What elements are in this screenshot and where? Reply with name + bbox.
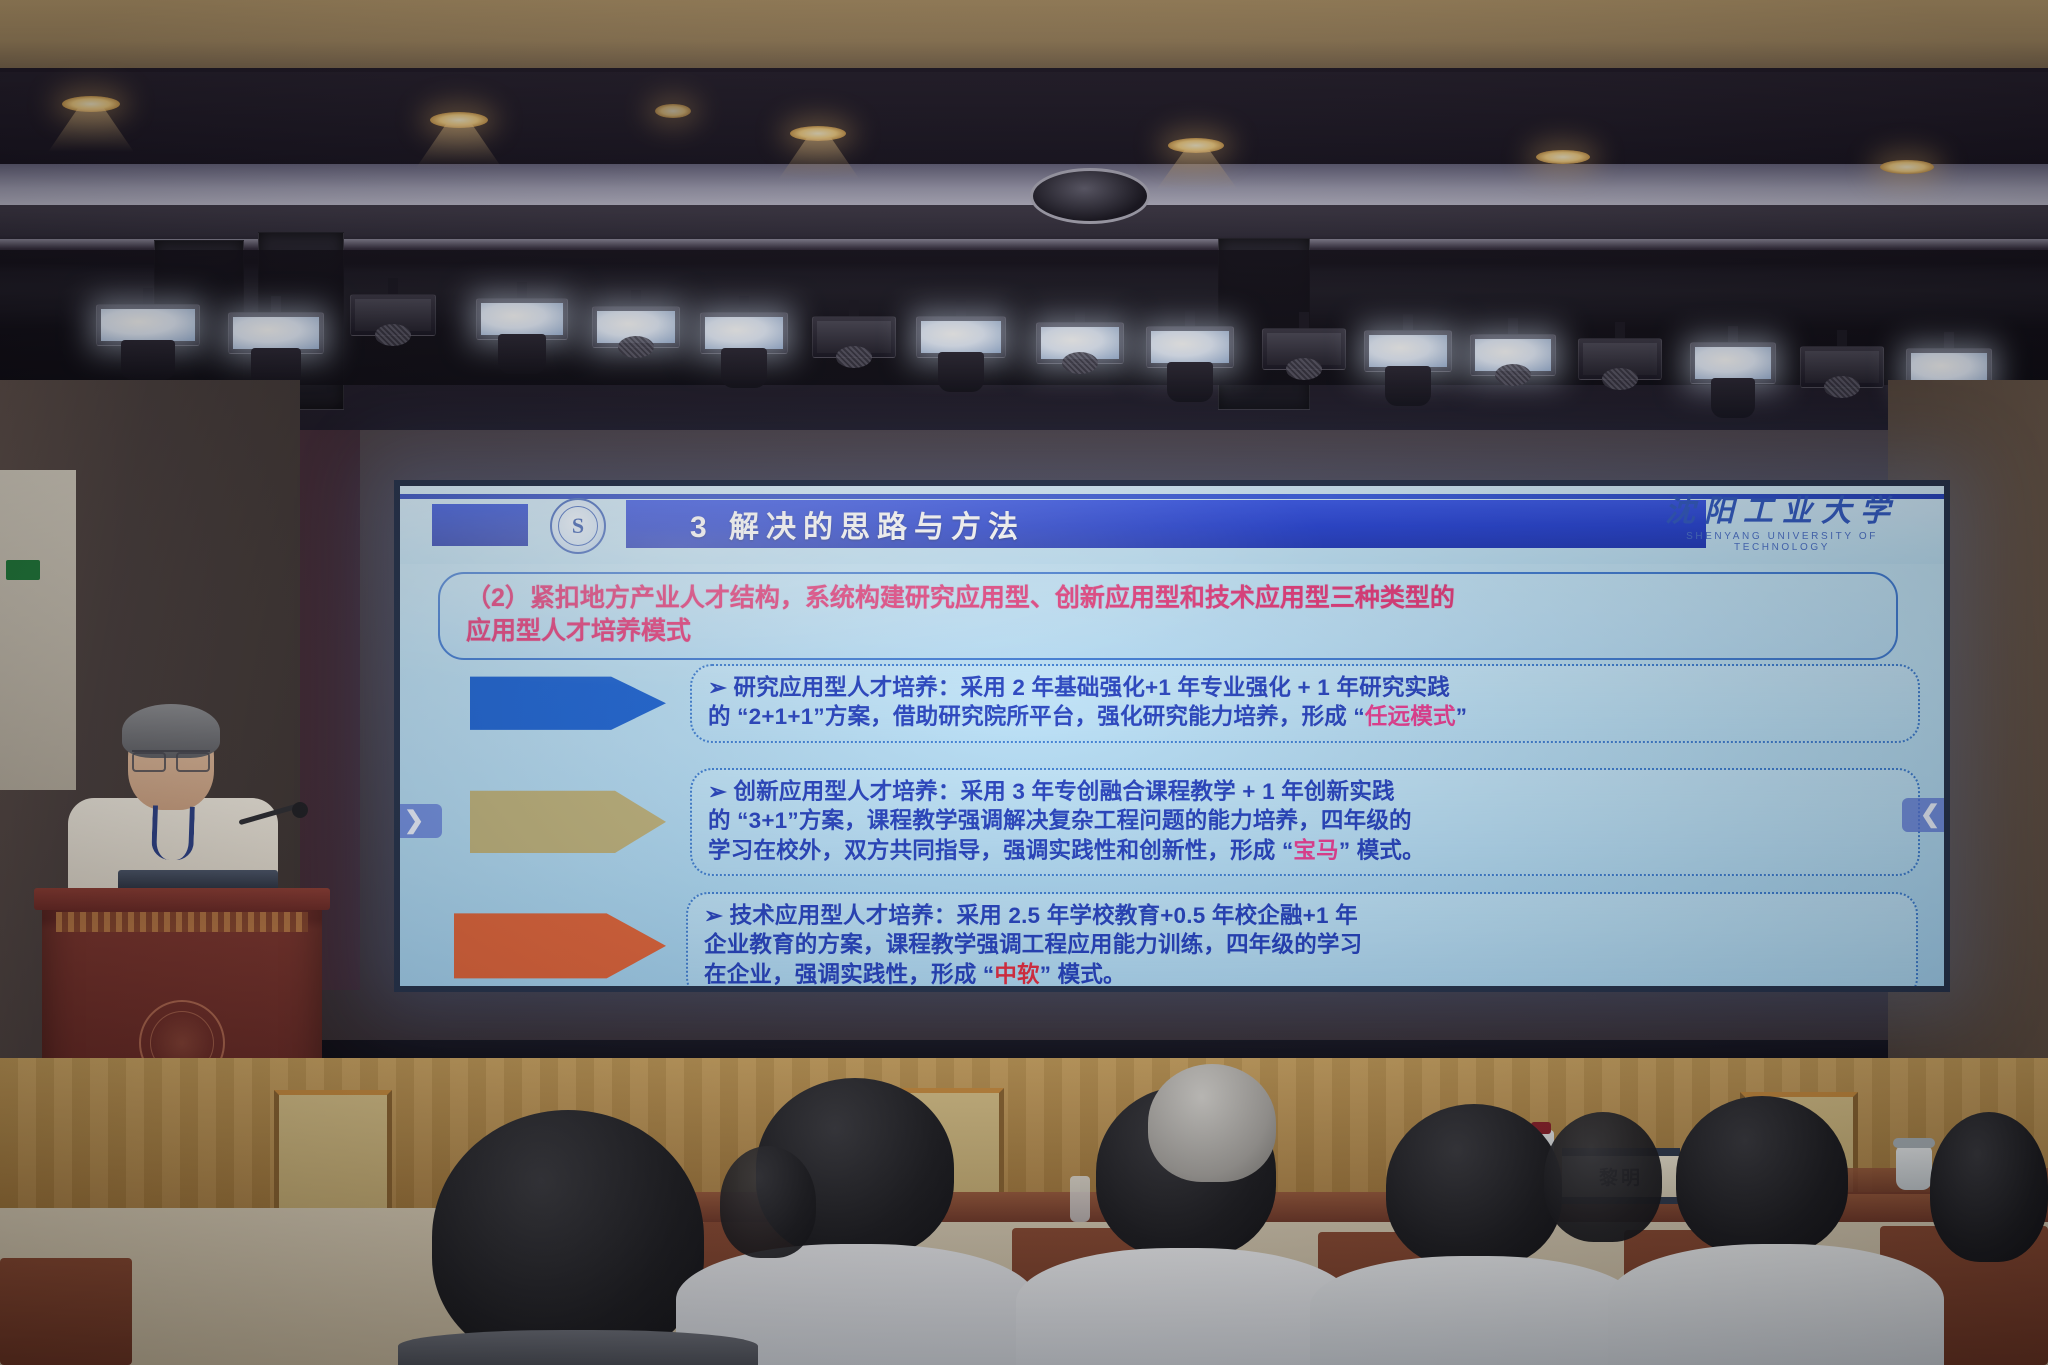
research-line-1: ➢ 研究应用型人才培养：采用 2 年基础强化+1 年专业强化 + 1 年研究实践 [708,673,1902,702]
ceiling-band-1 [0,72,2048,164]
technical-applied-bubble: ➢ 技术应用型人才培养：采用 2.5 年学校教育+0.5 年校企融+1 年 企业… [686,892,1918,986]
audience-head [432,1110,704,1365]
stage-light-fixture [1146,310,1234,426]
callout-line-1: （2）紧扣地方产业人才结构，系统构建研究应用型、创新应用型和技术应用型三种类型的 [466,582,1870,615]
audience-head [1676,1096,1848,1256]
audience-shoulders [1310,1256,1640,1365]
research-applied-bubble: ➢ 研究应用型人才培养：采用 2 年基础强化+1 年专业强化 + 1 年研究实践… [690,664,1920,743]
audience-head [1930,1112,2048,1262]
stage-light-fixture [1364,314,1452,430]
innovation-applied-bubble: ➢ 创新应用型人才培养：采用 3 年专创融合课程教学 + 1 年创新实践 的 “… [690,768,1920,876]
university-name-cn: 沈阳工业大学 [1642,496,1922,528]
podium-top-ledge [34,888,330,910]
stage-light-fixture-off [1262,312,1346,424]
university-name-en: SHENYANG UNIVERSITY OF TECHNOLOGY [1642,531,1922,553]
slide-block-technical: ➢ 技术应用型人才培养：采用 2.5 年学校教育+0.5 年校企融+1 年 企业… [454,892,1920,986]
auditorium-photo-scene: S 3 解决的思路与方法 沈阳工业大学 SHENYANG UNIVERSITY … [0,0,2048,1365]
slide-prev-button[interactable]: ❮ [1902,798,1944,832]
tea-cup-lid [1893,1138,1935,1148]
slide-block-innovation: ➢ 创新应用型人才培养：采用 3 年专创融合课程教学 + 1 年创新实践 的 “… [470,768,1920,876]
slide-title: 3 解决的思路与方法 [626,502,1025,546]
innovation-line-2: 的 “3+1”方案，课程教学强调解决复杂工程问题的能力培养，四年级的 [708,806,1902,835]
stage-light-fixture-off [1800,330,1884,440]
water-bottle [1070,1176,1090,1222]
eyeglasses-icon [132,750,210,766]
innovation-line-1: ➢ 创新应用型人才培养：采用 3 年专创融合课程教学 + 1 年创新实践 [708,777,1902,806]
audience-head-grey [1148,1064,1276,1182]
audience-shoulders [1608,1244,1944,1365]
technical-line-3: 在企业，强调实践性，形成 “中软” 模式。 [704,960,1900,987]
university-seal-icon: S [550,498,606,554]
seal-letter: S [558,506,598,546]
audience-head [1386,1104,1562,1268]
audience-head [1544,1112,1662,1242]
stage-light-fixture [1690,326,1776,438]
microphone-icon [292,802,308,818]
research-applied-arrow [470,666,666,740]
stage-light-fixture [476,282,568,402]
stage-light-fixture [700,296,788,414]
research-model-highlight: 任远模式 [1365,704,1456,729]
innovation-line-3: 学习在校外，双方共同指导，强调实践性和创新性，形成 “宝马” 模式。 [708,836,1902,865]
stage-light-fixture-off [812,300,896,412]
speaker-lanyard [151,805,195,860]
dome-camera [1030,168,1150,224]
stage-light-fixture [916,300,1006,418]
tea-cup [1896,1146,1932,1190]
audience-shoulders [1016,1248,1352,1365]
ceiling-warm-panel [0,0,2048,68]
bullet-icon: ➢ [704,903,723,928]
stage-light-fixture-off [1578,322,1662,432]
bullet-icon: ➢ [708,779,727,804]
technical-model-highlight: 中软 [994,962,1039,987]
bullet-icon: ➢ [708,675,727,700]
innovation-model-highlight: 宝马 [1293,838,1338,863]
slide-title-ribbon: 3 解决的思路与方法 [626,500,1706,548]
stage-light-fixture [1036,306,1124,424]
audience-seat-back [0,1258,132,1365]
slide-next-button[interactable]: ❯ [400,804,442,838]
ceiling-downlight [1880,160,1934,174]
technical-line-2: 企业教育的方案，课程教学强调工程应用能力训练，四年级的学习 [704,930,1900,959]
ceiling-downlight [1536,150,1590,164]
presentation-slide: S 3 解决的思路与方法 沈阳工业大学 SHENYANG UNIVERSITY … [400,486,1944,986]
slide-header-tab [432,504,528,546]
innovation-applied-arrow [470,785,666,859]
slide-block-research: ➢ 研究应用型人才培养：采用 2 年基础强化+1 年专业强化 + 1 年研究实践… [470,664,1920,743]
stage-light-fixture [592,290,680,408]
slide-header: S 3 解决的思路与方法 沈阳工业大学 SHENYANG UNIVERSITY … [400,486,1944,564]
research-line-2: 的 “2+1+1”方案，借助研究院所平台，强化研究能力培养，形成 “任远模式” [708,702,1902,731]
ceiling-spot-small [655,104,691,118]
exit-sign-icon [6,560,40,580]
technical-applied-arrow [454,909,666,983]
audience-shoulders [398,1330,758,1365]
stage-light-fixture [1470,318,1556,432]
stage-light-fixture-off [350,278,436,394]
projection-screen-frame: S 3 解决的思路与方法 沈阳工业大学 SHENYANG UNIVERSITY … [394,480,1950,992]
callout-line-2: 应用型人才培养模式 [466,615,1870,648]
slide-callout-box: （2）紧扣地方产业人才结构，系统构建研究应用型、创新应用型和技术应用型三种类型的… [438,572,1898,660]
university-wordmark: 沈阳工业大学 SHENYANG UNIVERSITY OF TECHNOLOGY [1642,496,1922,553]
audience-head [720,1146,816,1258]
technical-line-1: ➢ 技术应用型人才培养：采用 2.5 年学校教育+0.5 年校企融+1 年 [704,901,1900,930]
podium-carved-trim [56,912,308,932]
